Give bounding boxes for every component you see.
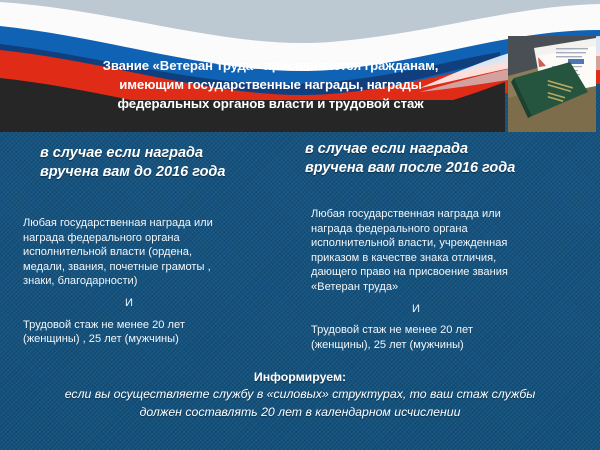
footer-line-1: если вы осуществляете службу в «силовых»… <box>0 385 600 403</box>
conjunction-and: И <box>23 296 291 311</box>
award-line: Любая государственная награда или <box>311 207 587 222</box>
column-body-after-2016: Любая государственная награда или наград… <box>311 207 587 352</box>
header-line-2: вручена вам до 2016 года <box>40 163 290 182</box>
veteran-certificate-photo <box>508 36 596 132</box>
award-line: дающего право на присвоение звания <box>311 265 587 280</box>
award-line: исполнительной власти (ордена, <box>23 245 291 260</box>
header-line-1: в случае если награда <box>305 140 575 159</box>
banner-line-2: имеющим государственные награды, награды <box>36 75 505 94</box>
header-line-2: вручена вам после 2016 года <box>305 159 575 178</box>
banner-line-3: федеральных органов власти и трудовой ст… <box>36 94 505 113</box>
service-line: Трудовой стаж не менее 20 лет <box>311 323 587 338</box>
award-line: награда федерального органа <box>23 231 291 246</box>
column-header-before-2016: в случае если награда вручена вам до 201… <box>40 144 290 182</box>
service-line: (женщины), 25 лет (мужчины) <box>311 338 587 353</box>
banner-line-1: Звание «Ветеран труда» присваивается гра… <box>36 56 505 75</box>
header-line-1: в случае если награда <box>40 144 290 163</box>
footer-note: Информируем: если вы осуществляете служб… <box>0 369 600 421</box>
award-line: приказом в качестве знака отличия, <box>311 251 587 266</box>
service-line: (женщины) , 25 лет (мужчины) <box>23 332 291 347</box>
conjunction-and: И <box>311 302 587 317</box>
award-line: Любая государственная награда или <box>23 216 291 231</box>
award-line: знаки, благодарности) <box>23 274 291 289</box>
banner-title: Звание «Ветеран труда» присваивается гра… <box>0 56 505 113</box>
service-line: Трудовой стаж не менее 20 лет <box>23 318 291 333</box>
award-line: «Ветеран труда» <box>311 280 587 295</box>
award-line: награда федерального органа <box>311 222 587 237</box>
award-line: медали, звания, почетные грамоты , <box>23 260 291 275</box>
column-body-before-2016: Любая государственная награда или наград… <box>23 216 291 347</box>
slide-root: Звание «Ветеран труда» присваивается гра… <box>0 0 600 450</box>
footer-line-2: должен составлять 20 лет в календарном и… <box>0 403 600 421</box>
column-header-after-2016: в случае если награда вручена вам после … <box>305 140 575 178</box>
footer-title: Информируем: <box>0 369 600 385</box>
award-line: исполнительной власти, учрежденная <box>311 236 587 251</box>
